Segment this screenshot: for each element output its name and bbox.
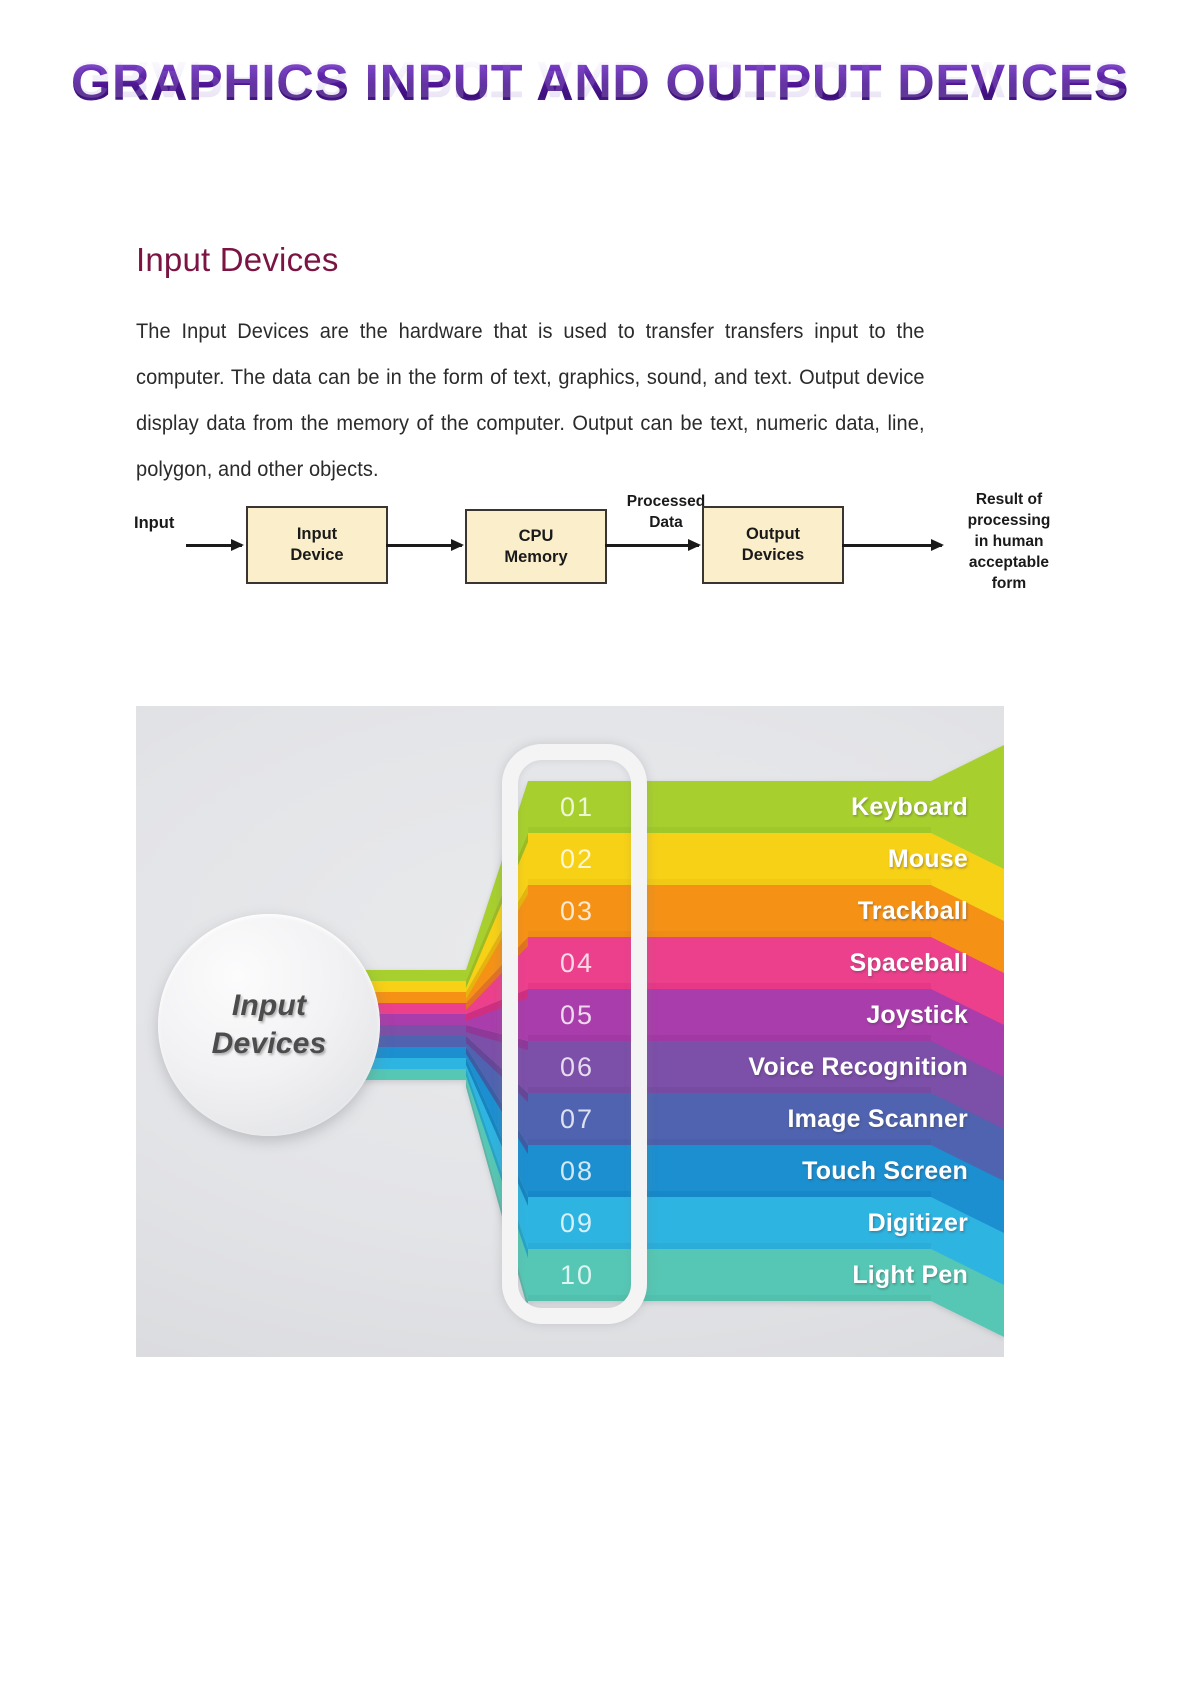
infographic-band-shade-04 [528,983,931,989]
flow-arrow-3-icon [605,544,699,547]
infographic-band-shade-06 [528,1087,931,1093]
infographic-band-shade-10 [528,1295,931,1301]
infographic-band-shade-02 [528,879,931,885]
input-devices-infographic: Input Devices 10Light Pen09Digitizer08To… [136,706,1004,1357]
flow-input-label: Input [134,514,174,533]
flow-box-cpu-memory-label: CPUMemory [504,526,567,568]
flow-box-input-device-label: InputDevice [290,524,343,566]
flow-arrow-4-icon [842,544,942,547]
page-title-block: GRAPHICS INPUT AND OUTPUT DEVICES GRAPHI… [0,52,1200,162]
page-title: GRAPHICS INPUT AND OUTPUT DEVICES [0,52,1200,114]
flow-box-output-devices-label: OutputDevices [742,524,804,566]
flow-box-cpu-memory: CPUMemory [465,509,607,584]
flow-arrow-2-icon [386,544,462,547]
flow-caption-result: Result ofprocessingin humanacceptablefor… [936,489,1082,594]
infographic-circle-line-1: Input [232,987,306,1025]
infographic-circle-line-2: Devices [212,1025,327,1063]
flow-box-output-devices: OutputDevices [702,506,844,584]
section-heading: Input Devices [136,241,339,279]
infographic-band-shade-03 [528,931,931,937]
infographic-band-shade-09 [528,1243,931,1249]
infographic-band-shade-05 [528,1035,931,1041]
infographic-source-circle: Input Devices [158,914,380,1136]
flow-arrow-1-icon [186,544,242,547]
infographic-band-shade-01 [528,827,931,833]
infographic-band-shade-07 [528,1139,931,1145]
infographic-band-shade-08 [528,1191,931,1197]
infographic-canvas: Input Devices 10Light Pen09Digitizer08To… [136,706,1004,1357]
section-paragraph: The Input Devices are the hardware that … [136,308,925,492]
flow-diagram: Input InputDevice CPUMemory ProcessedDat… [130,484,1080,609]
flow-box-input-device: InputDevice [246,506,388,584]
